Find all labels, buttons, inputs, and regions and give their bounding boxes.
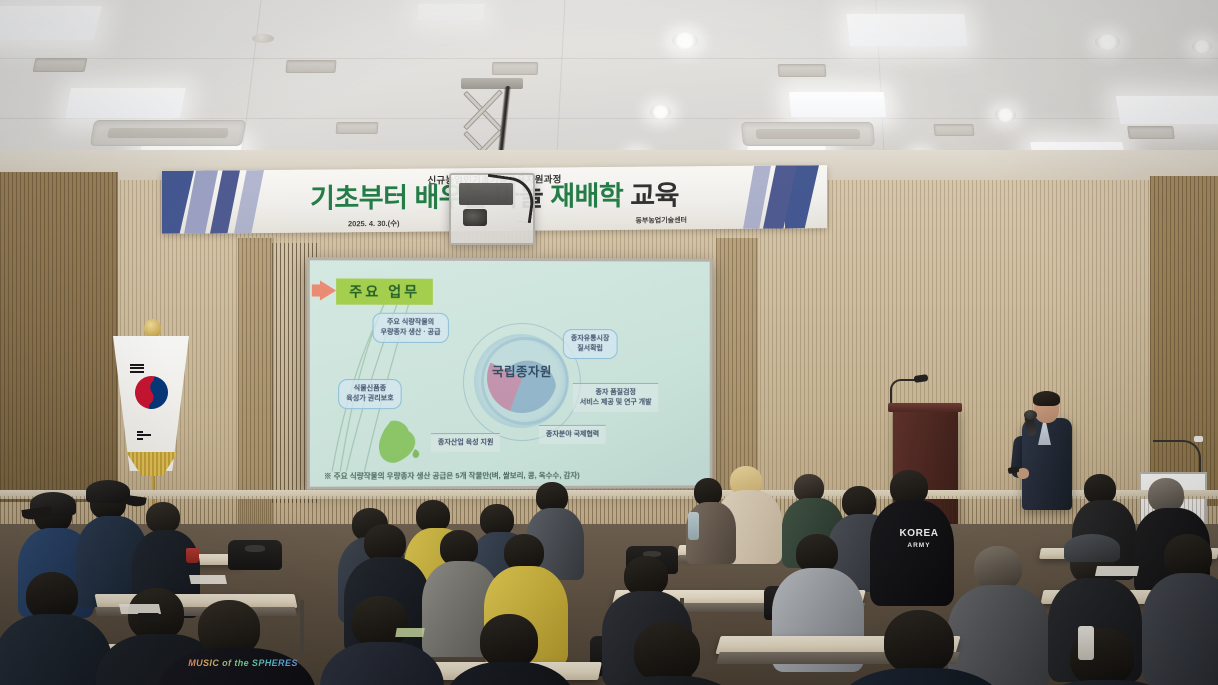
shirt-text-line2: ARMY bbox=[886, 542, 952, 549]
ceiling-speaker bbox=[252, 34, 274, 43]
node-4-line2: 서비스 제공 및 연구 개발 bbox=[580, 399, 652, 406]
ceiling-downlight bbox=[1192, 40, 1212, 53]
slide-footnote: ※ 주요 식량작물의 우량종자 생산 공급은 5개 작물만(벼, 쌀보리, 콩,… bbox=[324, 469, 704, 481]
shirt-text-line1: KOREA bbox=[886, 528, 952, 539]
ceiling-panel-light bbox=[65, 88, 186, 118]
whiteboard-lamp-arm bbox=[1153, 440, 1201, 476]
projection-screen: 주요 업무 국립종자원 주요 식량작물의 우량종자 생산 · 공급 종자유통시장… bbox=[307, 257, 713, 489]
flag-finial bbox=[144, 319, 161, 338]
flag-trigram-top bbox=[130, 362, 144, 374]
node-6-line1: 종자분야 국제협력 bbox=[546, 431, 599, 438]
node-5-line1: 종자산업 육성 지원 bbox=[438, 439, 494, 446]
ceiling-panel-light bbox=[846, 14, 967, 46]
chair bbox=[228, 540, 282, 570]
shirt-text-line1: MUSIC of the SPHERES bbox=[168, 658, 318, 668]
node-3-line1: 식물신품종 bbox=[354, 385, 386, 392]
paper-sheet bbox=[1095, 566, 1139, 576]
node-4-line1: 종자 품질검정 bbox=[596, 389, 636, 396]
paper-sheet bbox=[189, 575, 227, 584]
diagram-node-4: 종자 품질검정 서비스 제공 및 연구 개발 bbox=[573, 383, 659, 412]
node-3-line2: 육성가 권리보호 bbox=[346, 395, 393, 402]
lecture-hall-photo: 신규농업인기초기술교육지원과정 기초부터 배우는 마늘 재배학 교육 2025.… bbox=[0, 0, 1218, 685]
red-cup bbox=[186, 548, 199, 563]
slide-canvas: 주요 업무 국립종자원 주요 식량작물의 우량종자 생산 · 공급 종자유통시장… bbox=[310, 260, 710, 486]
ceiling-panel-light bbox=[1116, 96, 1218, 124]
ceiling-downlight bbox=[672, 32, 698, 49]
paper-sheet bbox=[395, 628, 425, 637]
wall-left-panel bbox=[0, 172, 118, 502]
water-bottle bbox=[1078, 626, 1094, 660]
ac-cassette-vent bbox=[90, 120, 247, 146]
ceiling-slot-vent bbox=[933, 124, 974, 136]
node-1-line2: 우량종자 생산 · 공급 bbox=[381, 329, 441, 336]
diagram-node-3: 식물신품종 육성가 권리보호 bbox=[338, 379, 402, 409]
ceiling bbox=[0, 0, 1218, 172]
ceiling-panel-light bbox=[417, 4, 484, 20]
ceiling-panel-light bbox=[0, 6, 102, 40]
desk-leg bbox=[300, 600, 304, 652]
node-2-line2: 질서확립 bbox=[577, 345, 603, 352]
ceiling-slot-vent bbox=[1127, 126, 1175, 139]
ceiling-slot-vent bbox=[492, 62, 538, 75]
ac-cassette-vent bbox=[741, 122, 875, 146]
ceiling-slot-vent bbox=[778, 64, 827, 77]
diagram-node-1: 주요 식량작물의 우량종자 생산 · 공급 bbox=[372, 313, 448, 343]
diagram-node-2: 종자유통시장 질서확립 bbox=[563, 329, 617, 359]
podium-top-surface bbox=[888, 403, 962, 412]
node-1-line1: 주요 식량작물의 bbox=[387, 319, 434, 326]
diagram-node-5: 종자산업 육성 지원 bbox=[431, 433, 501, 452]
water-bottle bbox=[688, 512, 699, 540]
slide-title: 주요 업무 bbox=[336, 278, 433, 304]
ceiling-projector bbox=[449, 173, 535, 245]
ceiling-slot-vent bbox=[33, 58, 88, 72]
presenter-hair bbox=[1033, 391, 1060, 406]
banner-organization: 동부농업기술센터 bbox=[635, 215, 687, 225]
diagram-center-label: 국립종자원 bbox=[476, 361, 568, 380]
wall-pillar-left bbox=[238, 238, 274, 528]
ceiling-downlight bbox=[995, 108, 1016, 122]
banner-title-part4: 교육 bbox=[630, 180, 679, 210]
title-arrow bbox=[320, 280, 336, 300]
ceiling-slot-vent bbox=[285, 60, 336, 73]
microphone-capsule bbox=[1024, 410, 1037, 420]
ceiling-slot-vent bbox=[336, 122, 379, 134]
node-2-line1: 종자유통시장 bbox=[571, 335, 609, 342]
flag-trigram-bottom bbox=[137, 429, 151, 441]
whiteboard-lamp bbox=[1194, 436, 1203, 442]
ceiling-downlight bbox=[1095, 34, 1120, 50]
korea-map-illustration bbox=[372, 419, 424, 465]
smartphone bbox=[137, 613, 161, 621]
banner-date: 2025. 4. 30.(수) bbox=[348, 218, 400, 229]
ceiling-downlight bbox=[650, 105, 671, 119]
diagram-node-6: 종자분야 국제협력 bbox=[539, 425, 606, 444]
ceiling-panel-light bbox=[789, 92, 886, 117]
baseball-cap bbox=[1064, 534, 1120, 562]
banner-title-part3: 재배학 bbox=[550, 181, 623, 212]
